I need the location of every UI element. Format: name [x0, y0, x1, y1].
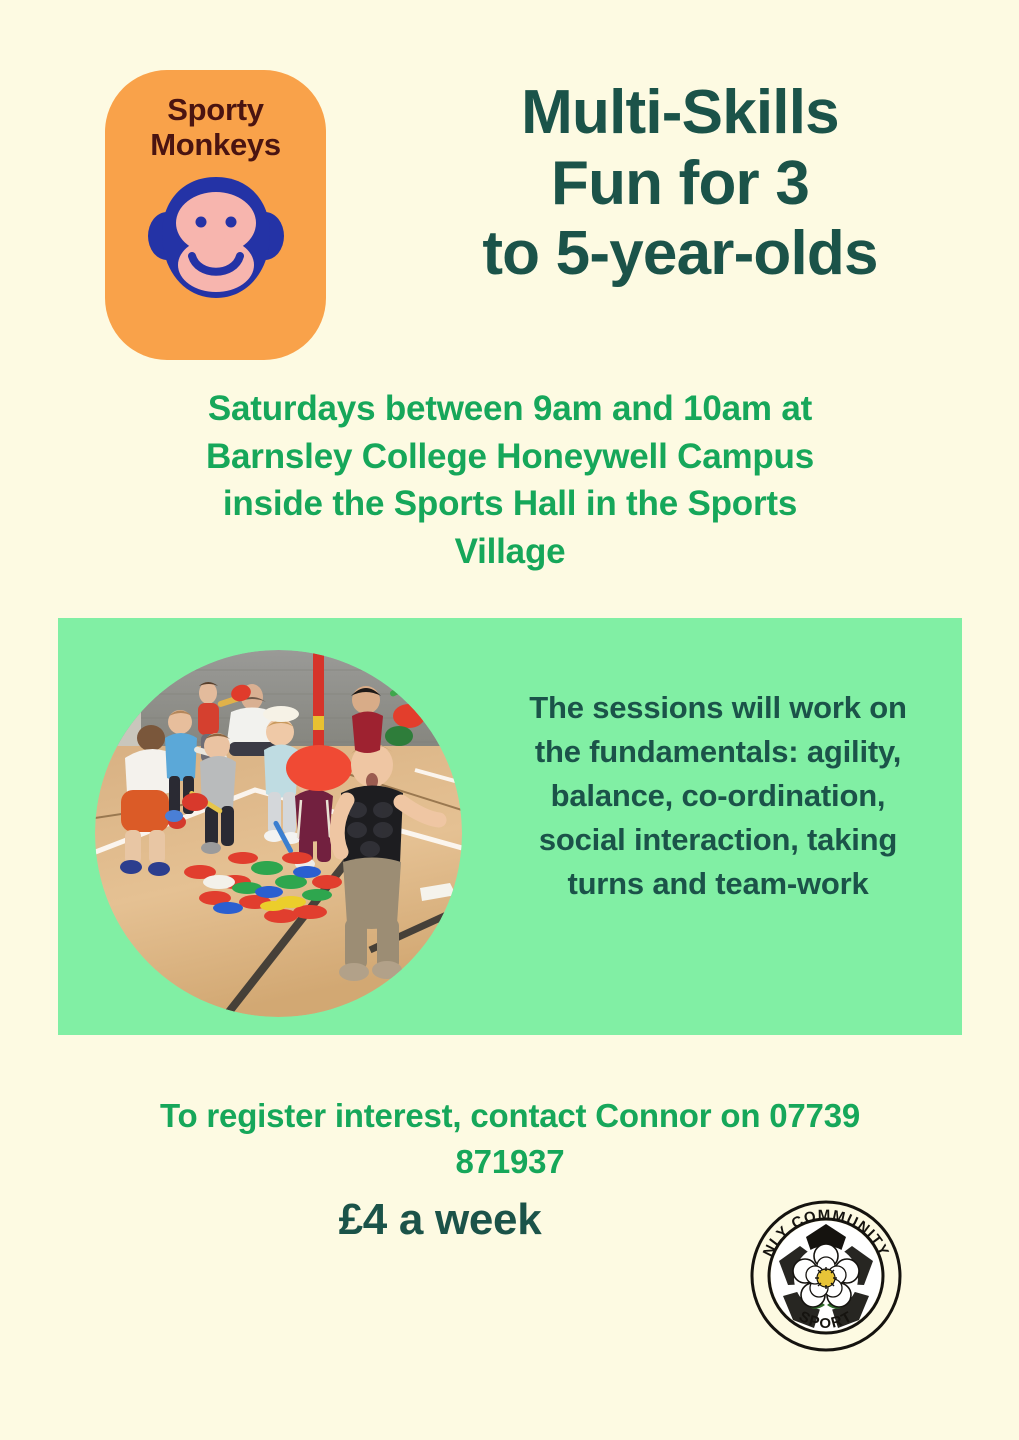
feature-description: The sessions will work on the fundamenta… — [483, 686, 953, 906]
feature-line1: The sessions will work on — [483, 686, 953, 730]
headline-line3: to 5-year-olds — [360, 219, 1000, 290]
schedule-block: Saturdays between 9am and 10am at Barnsl… — [60, 385, 960, 575]
headline-line2: Fun for 3 — [360, 149, 1000, 220]
contact-line2: 871937 — [60, 1139, 960, 1185]
brand-name: Sporty Monkeys — [150, 93, 281, 162]
feature-line4: social interaction, taking — [483, 818, 953, 862]
schedule-line2: Barnsley College Honeywell Campus — [60, 433, 960, 481]
poster-canvas: Sporty Monkeys Multi-Skil — [0, 0, 1019, 1440]
feature-panel: The sessions will work on the fundamenta… — [58, 618, 962, 1035]
contact-line1: To register interest, contact Connor on … — [60, 1093, 960, 1139]
headline-line1: Multi-Skills — [360, 78, 1000, 149]
brand-badge: Sporty Monkeys — [105, 70, 326, 360]
page-title: Multi-Skills Fun for 3 to 5-year-olds — [360, 78, 1000, 290]
feature-line3: balance, co-ordination, — [483, 774, 953, 818]
monkey-face-icon — [148, 174, 284, 304]
schedule-line3: inside the Sports Hall in the Sports — [60, 480, 960, 528]
brand-name-line1: Sporty — [167, 92, 263, 127]
brand-name-line2: Monkeys — [150, 128, 281, 163]
nly-community-sport-logo: NLY COMMUNITY SPORT — [748, 1198, 904, 1354]
schedule-line1: Saturdays between 9am and 10am at — [60, 385, 960, 433]
price-text: £4 a week — [130, 1195, 750, 1245]
session-photo — [95, 650, 462, 1017]
feature-line5: turns and team-work — [483, 862, 953, 906]
schedule-line4: Village — [60, 528, 960, 576]
feature-line2: the fundamentals: agility, — [483, 730, 953, 774]
contact-block: To register interest, contact Connor on … — [60, 1093, 960, 1185]
